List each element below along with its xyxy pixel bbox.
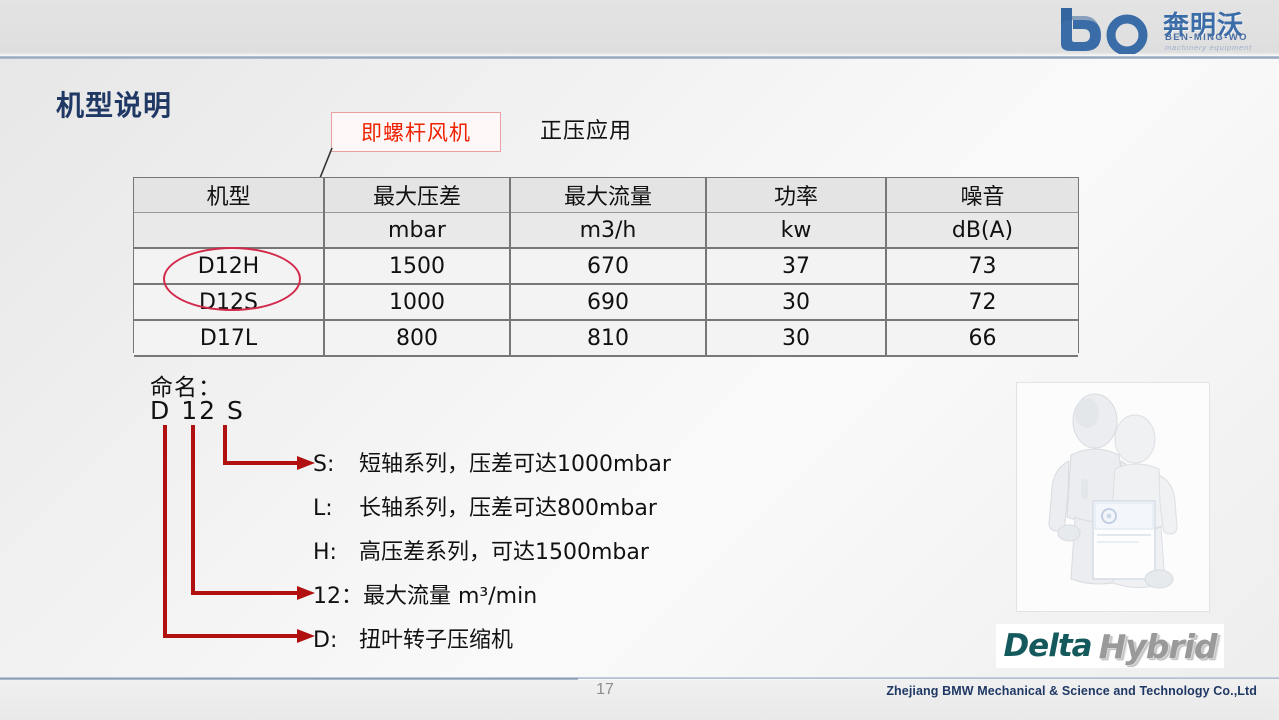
table-cell-noise: 72 <box>886 284 1078 320</box>
slide-canvas: 奔明沃 BEN-MING-WO machinery equipment 机型说明… <box>0 0 1279 720</box>
legend-text: 12：最大流量 m³/min <box>313 578 537 610</box>
table-cell-noise: 66 <box>886 320 1078 356</box>
table-header-cell: 功率 <box>706 178 886 213</box>
brand-hybrid: Hybrid <box>1099 627 1217 666</box>
logo-english-name: BEN-MING-WO <box>1165 32 1248 43</box>
brand-delta: Delta <box>1003 628 1091 664</box>
table-header-cell: 噪音 <box>886 178 1078 213</box>
table-cell-flow: 810 <box>510 320 706 356</box>
naming-legend: S: 短轴系列，压差可达1000mbar L: 长轴系列，压差可达800mbar… <box>313 446 833 666</box>
table-cell-pressure: 1500 <box>324 248 510 284</box>
table-header-cell: 最大压差 <box>324 178 510 213</box>
legend-text: 高压差系列，可达1500mbar <box>359 534 649 566</box>
legend-text: 长轴系列，压差可达800mbar <box>359 490 657 522</box>
positive-pressure-note: 正压应用 <box>540 113 632 145</box>
table-cell-flow: 690 <box>510 284 706 320</box>
footer-company-name: Zhejiang BMW Mechanical & Science and Te… <box>886 684 1257 698</box>
legend-text: 短轴系列，压差可达1000mbar <box>359 446 671 478</box>
table-cell-pressure: 800 <box>324 320 510 356</box>
legend-text: 扭叶转子压缩机 <box>359 622 513 654</box>
logo-tagline: machinery equipment <box>1165 43 1252 52</box>
list-item: D: 扭叶转子压缩机 <box>313 622 833 651</box>
page-title: 机型说明 <box>56 84 172 124</box>
table-row: D12S 1000 690 30 72 <box>134 284 1078 320</box>
table-unit-cell: dB(A) <box>886 213 1078 249</box>
header-divider-line <box>0 56 1279 59</box>
table-unit-cell: mbar <box>324 213 510 249</box>
company-logo: 奔明沃 BEN-MING-WO machinery equipment <box>1055 4 1265 54</box>
table-cell-model: D17L <box>134 320 324 356</box>
legend-key: H: <box>313 540 359 565</box>
table-unit-cell: m3/h <box>510 213 706 249</box>
legend-key: L: <box>313 496 359 521</box>
table-row: D12H 1500 670 37 73 <box>134 248 1078 284</box>
table-unit-cell <box>134 213 324 249</box>
legend-key: S: <box>313 452 359 477</box>
product-photo <box>1016 382 1210 612</box>
naming-code: D 12 S <box>150 396 245 425</box>
table-header-cell: 机型 <box>134 178 324 213</box>
list-item: 12：最大流量 m³/min <box>313 578 833 607</box>
table-header-cell: 最大流量 <box>510 178 706 213</box>
table-header-row: 机型 最大压差 最大流量 功率 噪音 <box>134 178 1078 213</box>
table-cell-power: 30 <box>706 320 886 356</box>
footer-divider-right <box>578 677 1279 679</box>
delta-hybrid-logo: Delta Hybrid <box>996 624 1224 668</box>
table-row: D17L 800 810 30 66 <box>134 320 1078 356</box>
table-cell-pressure: 1000 <box>324 284 510 320</box>
table-cell-noise: 73 <box>886 248 1078 284</box>
callout-label: 即螺杆风机 <box>361 117 471 147</box>
callout-box: 即螺杆风机 <box>331 112 501 152</box>
page-number: 17 <box>575 681 635 699</box>
list-item: L: 长轴系列，压差可达800mbar <box>313 490 833 519</box>
list-item: S: 短轴系列，压差可达1000mbar <box>313 446 833 475</box>
table-cell-model: D12H <box>134 248 324 284</box>
table-unit-cell: kw <box>706 213 886 249</box>
two-robots-holding-blower-icon <box>1017 383 1209 611</box>
table-cell-power: 37 <box>706 248 886 284</box>
table-cell-power: 30 <box>706 284 886 320</box>
table-cell-model: D12S <box>134 284 324 320</box>
table-cell-flow: 670 <box>510 248 706 284</box>
spec-table: 机型 最大压差 最大流量 功率 噪音 mbar m3/h kw dB(A) D1… <box>134 178 1078 357</box>
list-item: H: 高压差系列，可达1500mbar <box>313 534 833 563</box>
table-units-row: mbar m3/h kw dB(A) <box>134 213 1078 249</box>
legend-key: D: <box>313 628 359 653</box>
